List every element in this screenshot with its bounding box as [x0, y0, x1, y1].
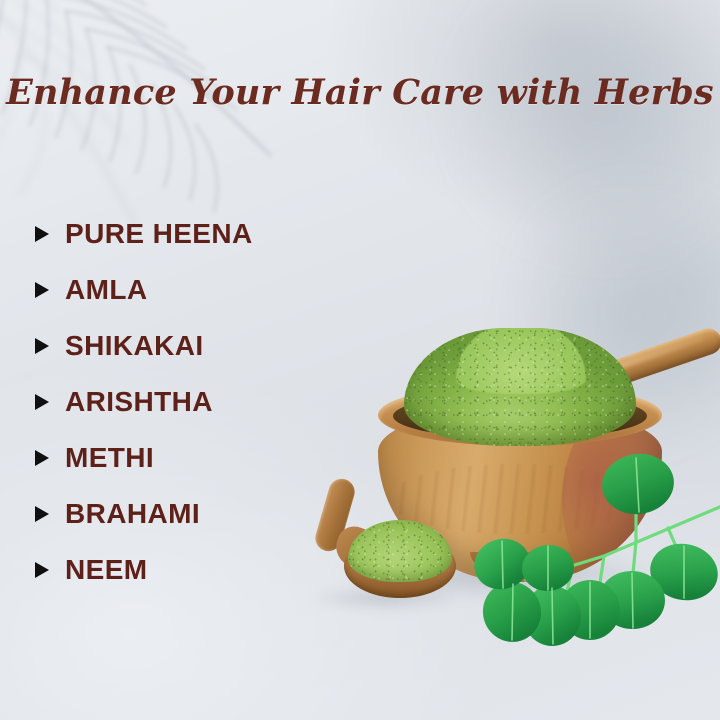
herb-label: ARISHTHA	[65, 386, 213, 418]
triangle-right-icon	[34, 393, 56, 411]
product-photo	[296, 370, 720, 670]
small-wooden-spoon	[308, 476, 458, 600]
page-title: Enhance Your Hair Care with Herbs	[0, 72, 720, 113]
triangle-right-icon	[34, 225, 56, 243]
triangle-right-icon	[34, 449, 56, 467]
herb-label: METHI	[65, 442, 154, 474]
herb-label: SHIKAKAI	[65, 330, 204, 362]
background-soft-shadow-top-right	[450, 0, 720, 260]
herbal-powder-mound	[404, 328, 636, 446]
small-spoon-powder	[348, 520, 452, 582]
herb-label: NEEM	[65, 554, 148, 586]
powder-texture	[404, 328, 636, 446]
triangle-right-icon	[34, 561, 56, 579]
triangle-right-icon	[34, 337, 56, 355]
herb-label: BRAHAMI	[65, 498, 200, 530]
list-item: PURE HEENA	[34, 206, 454, 262]
herb-label: AMLA	[65, 274, 147, 306]
list-item: AMLA	[34, 262, 454, 318]
powder-texture	[348, 520, 452, 582]
herb-label: PURE HEENA	[65, 218, 253, 250]
moringa-leaf-sprig	[486, 464, 720, 654]
triangle-right-icon	[34, 505, 56, 523]
list-item: SHIKAKAI	[34, 318, 454, 374]
poster-canvas: Enhance Your Hair Care with Herbs PURE H…	[0, 0, 720, 720]
triangle-right-icon	[34, 281, 56, 299]
